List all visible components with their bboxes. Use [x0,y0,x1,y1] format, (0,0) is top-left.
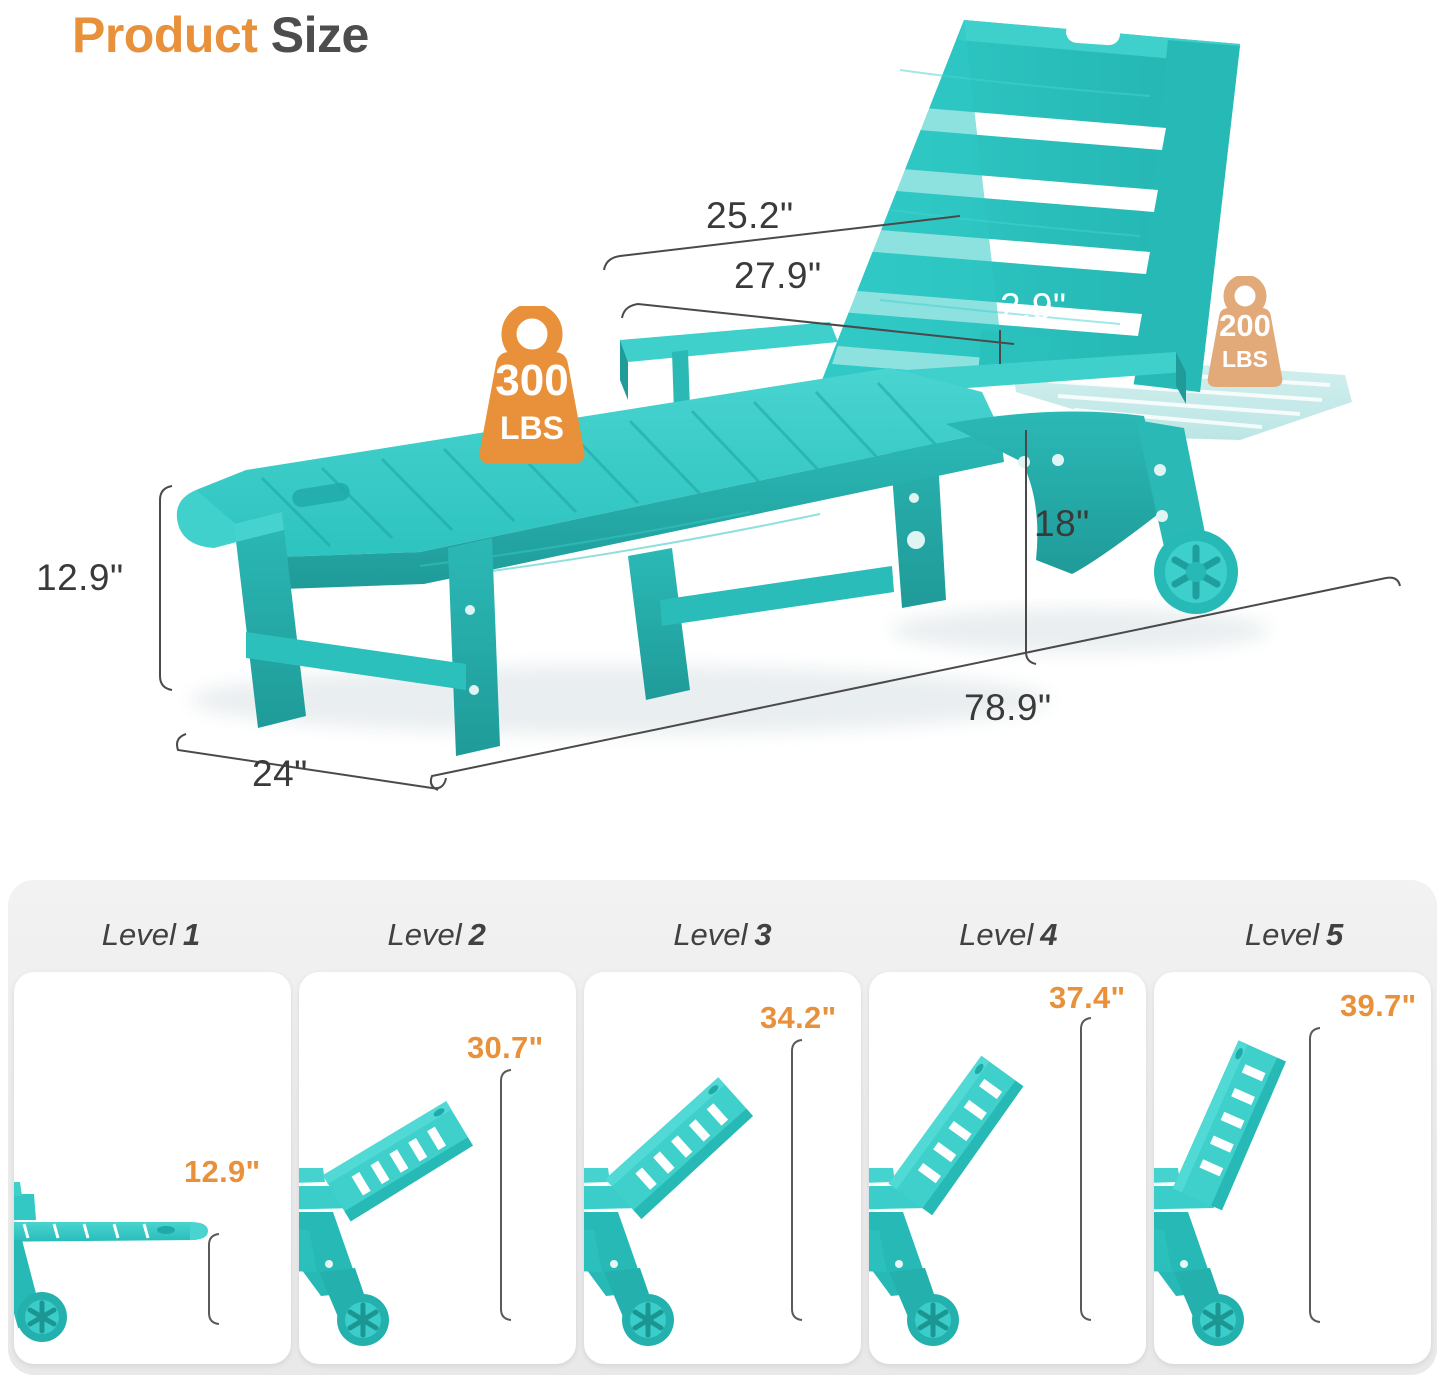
level-heading-2-label: Level [388,917,462,953]
level-heading-3-label: Level [673,917,747,953]
rear-wheel [1154,530,1238,614]
level-cards-row: 12.9" [8,972,1437,1364]
dimension-label-overall-length: 78.9" [964,687,1052,729]
level-heading-1: Level1 [8,880,294,966]
chaise-side-view-level-4 [869,972,1146,1364]
level-heading-2-number: 2 [469,917,486,953]
dimension-label-overall-depth: 24" [252,753,308,795]
level-card-2[interactable]: 30.7" [299,972,576,1364]
hero-product-illustration: 25.2" 27.9" 2.9" 12.9" 18" 24" 78.9" 300… [0,0,1445,860]
level-card-3-height: 34.2" [760,1000,837,1036]
level-card-4[interactable]: 37.4" [869,972,1146,1364]
level-card-5-height: 39.7" [1340,988,1417,1024]
weight-badge-200-unit: LBS [1198,346,1292,373]
level-heading-5-label: Level [1245,917,1319,953]
level-heading-4: Level4 [865,880,1151,966]
weight-badge-200-value: 200 [1198,308,1292,344]
level-heading-2: Level2 [294,880,580,966]
dimension-label-overall-width: 27.9" [734,255,822,297]
dimension-label-backrest-width: 25.2" [706,195,794,237]
level-card-1-height: 12.9" [184,1154,261,1190]
level-heading-3-number: 3 [754,917,771,953]
level-card-4-height: 37.4" [1049,980,1126,1016]
dimension-label-seat-height-rear: 18" [1034,503,1090,545]
level-heading-5: Level5 [1151,880,1437,966]
weight-badge-300: 300 LBS [466,306,598,466]
level-headings-row: Level1 Level2 Level3 Level4 Level5 [8,880,1437,966]
chaise-lounge-perspective-drawing [0,0,1445,860]
level-card-1[interactable]: 12.9" [14,972,291,1364]
dimension-label-slat-thickness: 2.9" [1000,286,1067,328]
recline-levels-panel: Level1 Level2 Level3 Level4 Level5 [8,880,1437,1375]
level-heading-1-number: 1 [183,917,200,953]
weight-badge-300-value: 300 [466,356,598,406]
weight-badge-200: 200 LBS [1198,276,1292,388]
product-size-infographic: Product Size [0,0,1445,1383]
level-heading-4-label: Level [959,917,1033,953]
mid-cross-brace [660,566,894,626]
dimension-label-seat-height-front: 12.9" [36,557,124,599]
level-card-2-height: 30.7" [467,1030,544,1066]
level-heading-1-label: Level [102,917,176,953]
level-heading-5-number: 5 [1326,917,1343,953]
level-heading-3: Level3 [580,880,866,966]
level-card-5[interactable]: 39.7" [1154,972,1431,1364]
chaise-side-view-level-5 [1154,972,1431,1364]
front-right-leg [448,538,500,756]
level-heading-4-number: 4 [1040,917,1057,953]
weight-badge-300-unit: LBS [466,410,598,447]
level-card-3[interactable]: 34.2" [584,972,861,1364]
